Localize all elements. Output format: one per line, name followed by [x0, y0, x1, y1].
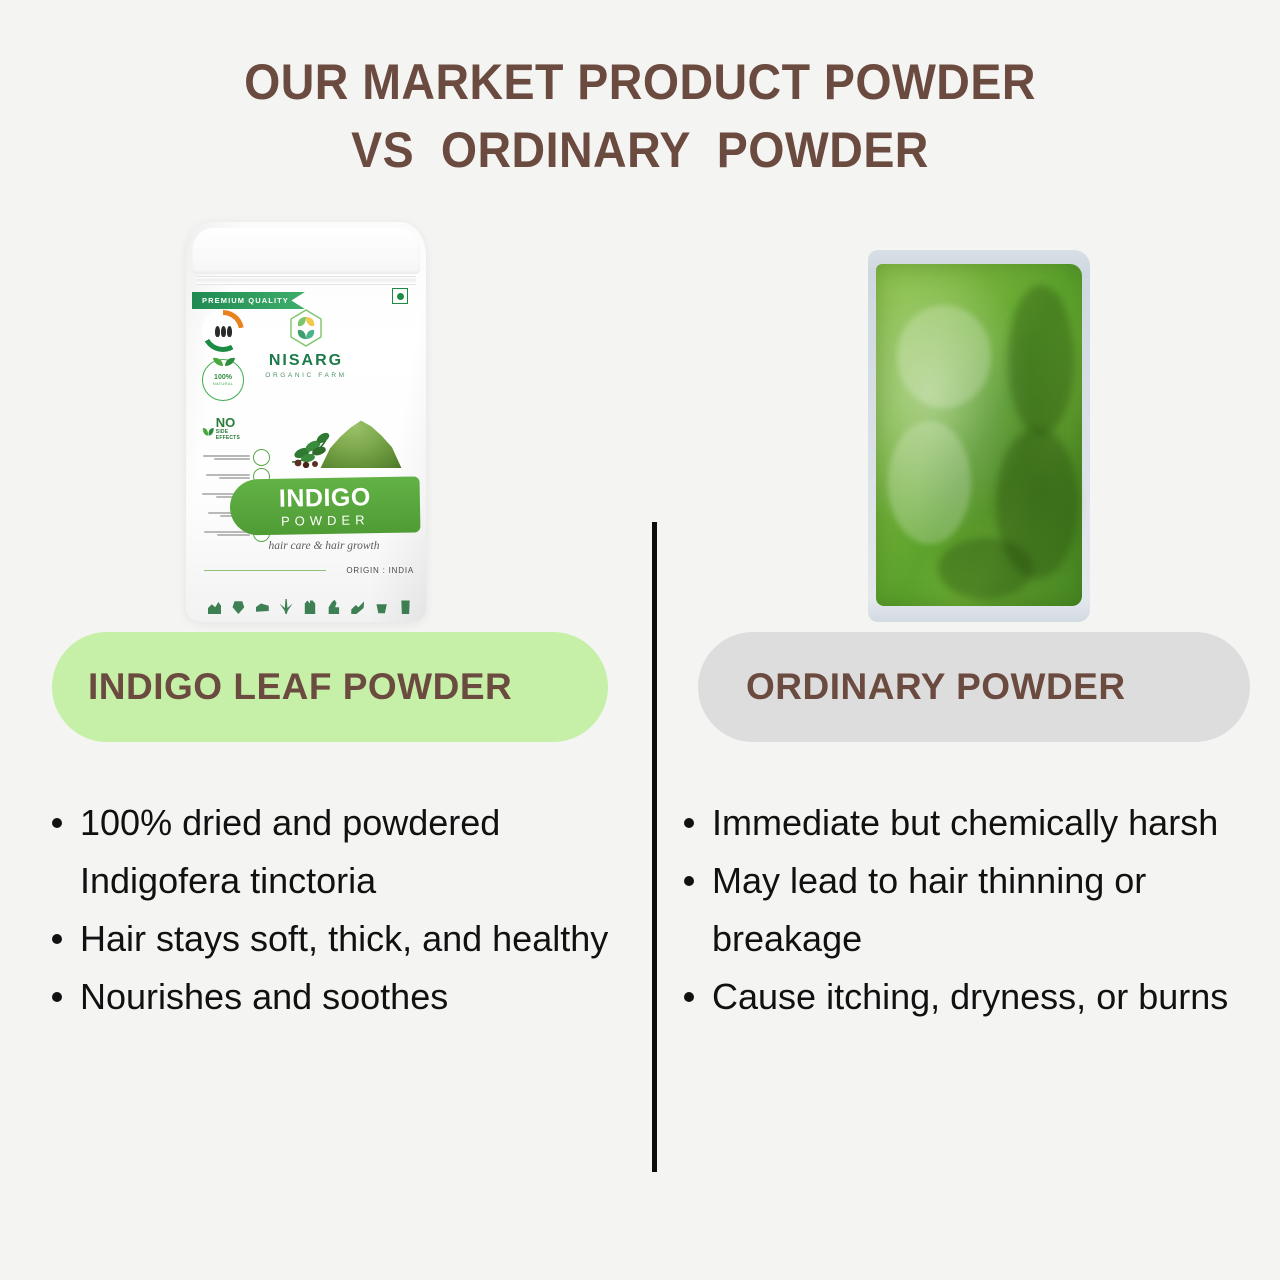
- comparison-infographic: OUR MARKET PRODUCT POWDER VS ORDINARY PO…: [0, 0, 1280, 1280]
- list-item: 100% dried and powdered Indigofera tinct…: [52, 794, 642, 910]
- list-item: May lead to hair thinning or breakage: [684, 852, 1264, 968]
- indigo-benefits-list: 100% dried and powdered Indigofera tinct…: [52, 794, 642, 1026]
- indigo-leaf-powder-pill: INDIGO LEAF POWDER: [52, 632, 608, 742]
- benefit-row: [198, 448, 270, 467]
- bullet-dot-icon: [684, 876, 694, 886]
- natural-badge-icon: 100% NATURAL: [202, 359, 244, 401]
- bullet-dot-icon: [52, 992, 62, 1002]
- right-column: ORDINARY POWDER Immediate but chemically…: [652, 0, 1280, 1280]
- list-item: Immediate but chemically harsh: [684, 794, 1264, 852]
- ordinary-powder-pill-label: ORDINARY POWDER: [746, 666, 1126, 708]
- product-name: INDIGO: [279, 485, 371, 512]
- product-type: POWDER: [281, 513, 370, 528]
- bullet-dot-icon: [684, 992, 694, 1002]
- certification-badges: 100% NATURAL NO SIDE EFFECTS: [202, 310, 250, 457]
- pictogram-mortar-icon: [375, 599, 388, 614]
- bag-green-powder: [876, 264, 1082, 606]
- ordinary-drawbacks-list: Immediate but chemically harsh May lead …: [684, 794, 1264, 1026]
- natural-badge-line1: 100%: [214, 374, 232, 381]
- natural-badge-line2: NATURAL: [213, 381, 233, 386]
- left-column: PREMIUM QUALITY NISARG ORGANIC FARM: [0, 0, 652, 1280]
- ordinary-powder-bag-image: [868, 250, 1090, 622]
- indigo-leaf-powder-pill-label: INDIGO LEAF POWDER: [88, 666, 512, 708]
- pictogram-bowl-icon: [232, 599, 245, 614]
- usage-pictogram-row: [208, 592, 412, 614]
- powder-mound-illustration: [284, 398, 412, 472]
- benefit-icon: [253, 449, 270, 466]
- bullet-dot-icon: [52, 818, 62, 828]
- pictogram-plant-icon: [280, 599, 293, 614]
- no-side-effects-line2: SIDE EFFECTS: [216, 429, 244, 441]
- no-side-effects-badge-icon: NO SIDE EFFECTS: [202, 408, 244, 450]
- no-side-effects-line1: NO: [216, 417, 244, 429]
- vegetarian-mark-icon: [392, 288, 408, 304]
- pictogram-hand-leaf-icon: [208, 599, 221, 614]
- pictogram-harvest-icon: [351, 599, 364, 614]
- made-in-india-badge-icon: [202, 310, 244, 352]
- pictogram-factory-icon: [304, 599, 317, 614]
- pictogram-field-icon: [256, 599, 269, 614]
- bullet-dot-icon: [52, 934, 62, 944]
- indigo-powder-pouch-image: PREMIUM QUALITY NISARG ORGANIC FARM: [186, 222, 426, 622]
- origin-rule: [204, 570, 326, 571]
- nisarg-hexagon-leaf-logo-icon: [286, 308, 326, 348]
- pictogram-worker-icon: [327, 599, 340, 614]
- list-item: Cause itching, dryness, or burns: [684, 968, 1264, 1026]
- premium-quality-ribbon: PREMIUM QUALITY: [192, 292, 305, 309]
- product-tagline: hair care & hair growth: [230, 540, 418, 552]
- bullet-dot-icon: [684, 818, 694, 828]
- pouch-top-seal: [192, 228, 420, 274]
- ordinary-powder-pill: ORDINARY POWDER: [698, 632, 1250, 742]
- pictogram-package-icon: [399, 599, 412, 614]
- origin-label: ORIGIN : INDIA: [346, 566, 414, 575]
- product-name-band: INDIGO POWDER: [230, 476, 421, 535]
- list-item: Hair stays soft, thick, and healthy: [52, 910, 642, 968]
- list-item: Nourishes and soothes: [52, 968, 642, 1026]
- pouch-zipper: [196, 276, 416, 285]
